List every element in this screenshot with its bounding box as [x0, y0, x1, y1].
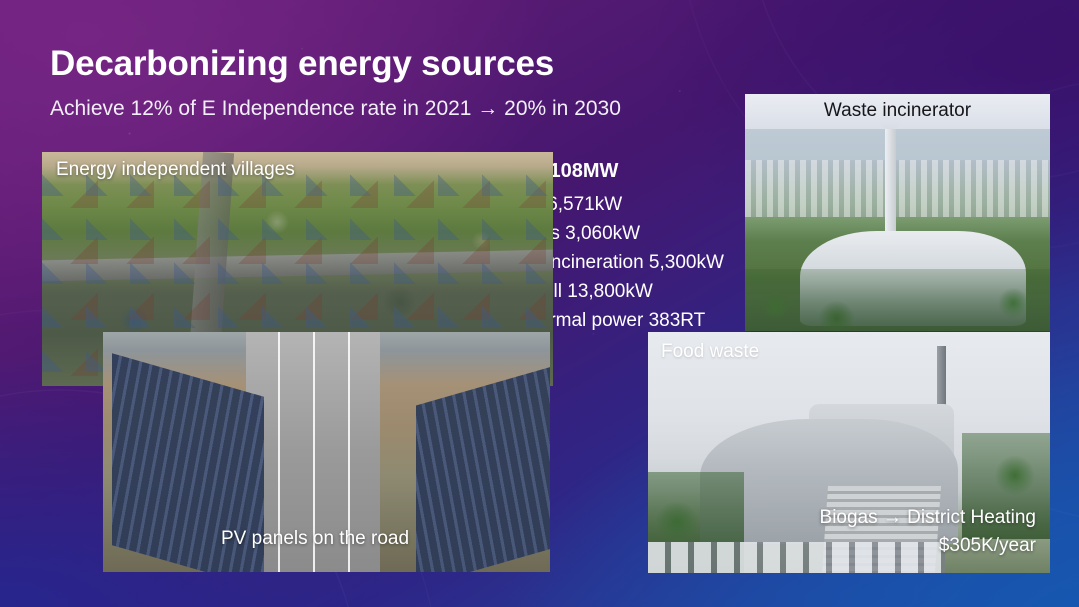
- photo-incinerator-caption: Waste incinerator: [745, 100, 1050, 122]
- photo-food-caption: Food waste: [661, 341, 759, 363]
- photo-food-waste: Food waste Biogas → District Heating $30…: [648, 332, 1050, 573]
- photo-food-overlay-line2: $305K/year: [648, 535, 1036, 557]
- capacity-heading-value: 108MW: [549, 160, 618, 182]
- photo-village-caption: Energy independent villages: [56, 159, 295, 181]
- photo-food-overlay-line1: Biogas → District Heating: [648, 507, 1036, 529]
- photo-incinerator-cityscape: [745, 160, 1050, 217]
- photo-waste-incinerator: Waste incinerator: [745, 94, 1050, 331]
- slide-title: Decarbonizing energy sources: [50, 44, 554, 84]
- photo-pv-caption: PV panels on the road: [221, 528, 409, 550]
- photo-incinerator-foliage: [745, 269, 1050, 331]
- photo-pv-panels-road: PV panels on the road: [103, 332, 550, 572]
- slide-subtitle: Achieve 12% of E Independence rate in 20…: [50, 97, 621, 121]
- slide-canvas: Decarbonizing energy sources Achieve 12%…: [0, 0, 1079, 607]
